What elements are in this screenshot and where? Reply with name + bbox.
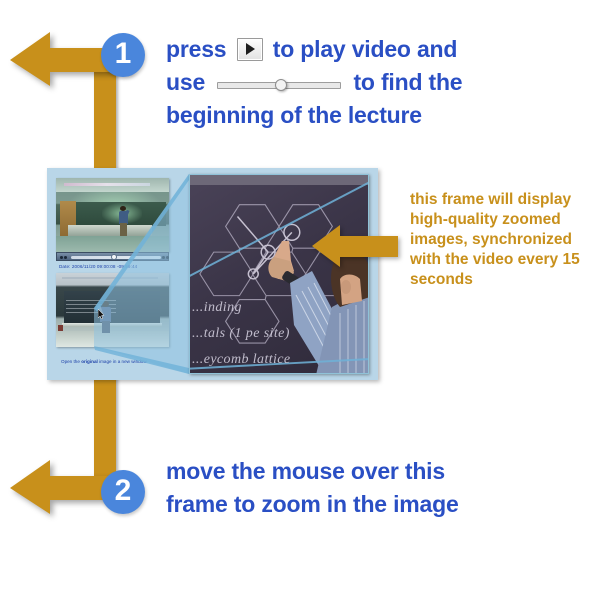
blackboard-line-2: ...tals (1 pe site) [192, 321, 322, 347]
step-1-line-1-pre: press [166, 36, 226, 62]
annotation-text: this frame will display high-quality zoo… [410, 190, 595, 290]
step-2-badge: 2 [101, 470, 145, 514]
blackboard-line-1: ...inding [192, 295, 322, 321]
step-2-line-2: frame to zoom in the image [166, 488, 459, 521]
blackboard-handwriting: ...inding ...tals (1 pe site) ...eycomb … [192, 295, 322, 373]
thumb2-floor [56, 331, 169, 347]
step-1-badge: 1 [101, 33, 145, 77]
play-icon[interactable] [64, 256, 67, 259]
slider-thumb[interactable] [275, 79, 287, 91]
open-original-post: image in a new window. [98, 359, 148, 364]
open-original-bold: original [81, 359, 98, 364]
step-1-instruction: press to play video and use to find the … [166, 33, 462, 132]
blackboard-line-3: ...eycomb lattice [192, 347, 322, 373]
step-1-line-2: use to find the [166, 66, 462, 99]
step-1-line-1-post: to play video and [273, 36, 457, 62]
thumb2-chalk-ledge [62, 323, 162, 327]
thumb2-lecturer-legs [102, 321, 110, 333]
mouse-cursor-icon [98, 309, 105, 319]
annotation-arrow-icon [312, 221, 398, 267]
step-2-line-1: move the mouse over this [166, 455, 459, 488]
video-player-screenshot-panel[interactable]: Date: 2006/11/20 09:00:08 -09:59:44 Open… [47, 168, 378, 380]
fullscreen-icon[interactable] [166, 256, 169, 259]
step-1-line-1: press to play video and [166, 33, 462, 66]
progress-thumb[interactable] [111, 254, 117, 260]
video-thumbnail-lecture-hall[interactable] [56, 178, 169, 252]
thumb1-desk [68, 225, 152, 236]
step-1-line-3: beginning of the lecture [166, 99, 462, 132]
zoomed-blackboard-frame[interactable]: ...inding ...tals (1 pe site) ...eycomb … [189, 174, 369, 374]
thumb1-lecturer [119, 206, 128, 236]
open-original-pre: Open the [61, 359, 81, 364]
annotated-screenshot-diagram: 1 press to play video and use to find th… [0, 0, 600, 600]
seek-slider-icon[interactable] [217, 76, 341, 92]
thumb1-lecturer-legs [120, 223, 127, 236]
step-1-line-2-pre: use [166, 69, 205, 95]
rewind-icon[interactable] [60, 256, 63, 259]
open-original-link[interactable]: Open the original image in a new window. [61, 359, 148, 364]
thumb2-light-strip [62, 277, 158, 279]
step-1-line-2-post: to find the [353, 69, 462, 95]
thumb1-floor [56, 236, 169, 252]
thumb1-light-strip [64, 183, 150, 186]
play-button-icon[interactable] [237, 38, 263, 61]
video-transport-bar[interactable] [56, 252, 169, 261]
step-2-instruction: move the mouse over this frame to zoom i… [166, 455, 459, 521]
volume-icon[interactable] [162, 256, 165, 259]
video-thumbnail-blackboard-wide[interactable] [56, 273, 169, 347]
